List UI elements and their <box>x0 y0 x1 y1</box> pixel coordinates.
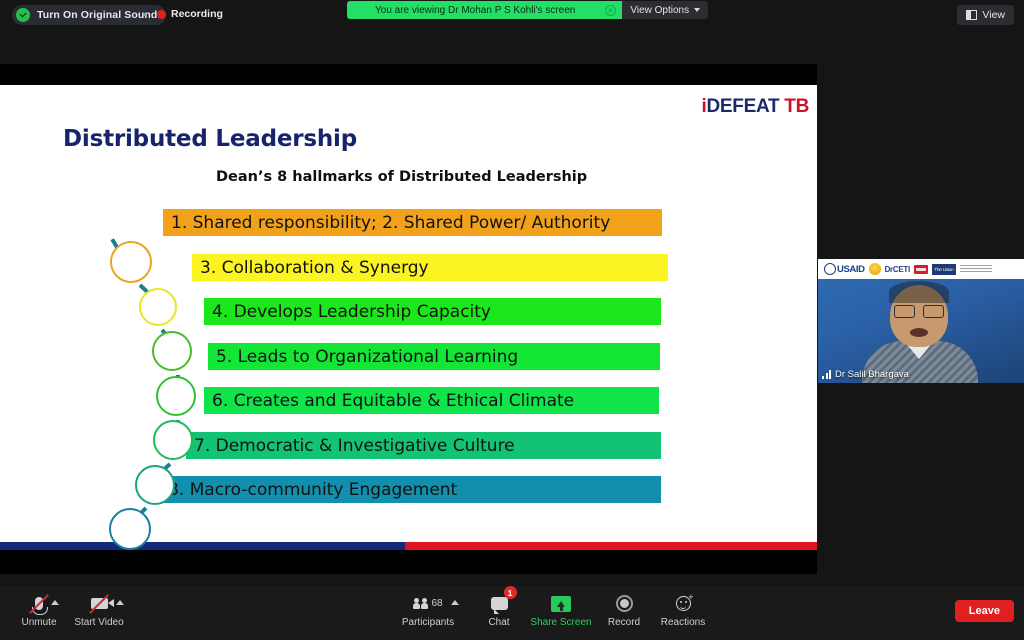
start-video-button[interactable]: Start Video <box>62 592 136 628</box>
top-bar: Turn On Original Sound Recording You are… <box>0 0 1024 30</box>
hallmark-bar: 7. Democratic & Investigative Culture <box>186 432 661 459</box>
hallmark-label: 6. Creates and Equitable & Ethical Clima… <box>212 391 574 411</box>
presentation-slide: iDEFEAT TB Distributed Leadership Dean’s… <box>0 85 817 550</box>
audio-options-caret-icon[interactable] <box>51 600 59 605</box>
microphone-muted-icon <box>35 592 43 615</box>
share-screen-label: Share Screen <box>530 617 591 628</box>
close-icon[interactable] <box>605 5 616 16</box>
hallmark-bar: 1. Shared responsibility; 2. Shared Powe… <box>163 209 662 236</box>
separator-dot <box>143 13 146 16</box>
participants-count: 68 <box>431 598 442 609</box>
hallmark-node-circle <box>110 241 152 283</box>
chat-label: Chat <box>488 617 509 628</box>
original-sound-label: Turn On Original Sound <box>37 9 157 21</box>
participants-icon: 68 <box>413 592 442 615</box>
person-glasses <box>894 305 944 316</box>
hallmark-label: 5. Leads to Organizational Learning <box>216 347 518 367</box>
gold-seal-icon <box>869 263 881 275</box>
record-label: Record <box>608 617 640 628</box>
reactions-label: Reactions <box>661 617 705 628</box>
shield-check-icon <box>16 8 30 22</box>
reactions-icon: + <box>676 592 691 615</box>
record-icon <box>616 592 633 615</box>
record-dot-icon <box>157 10 166 19</box>
red-mark-logo <box>914 265 928 274</box>
the-union-logo: The Union <box>932 264 956 275</box>
video-feed <box>818 279 1024 383</box>
union-text-lines <box>960 265 992 273</box>
chat-unread-badge: 1 <box>504 586 517 599</box>
leave-button[interactable]: Leave <box>955 600 1014 622</box>
usaid-logo: USAID <box>824 263 865 275</box>
meeting-toolbar: Unmute Start Video 68 Participants 1 Cha… <box>0 586 1024 640</box>
reactions-button[interactable]: + Reactions <box>646 592 720 628</box>
hallmark-node-circle <box>152 331 192 371</box>
shared-screen-region[interactable]: iDEFEAT TB Distributed Leadership Dean’s… <box>0 64 817 574</box>
person-mouth <box>910 328 928 337</box>
camera-muted-icon <box>91 592 108 615</box>
red-mark-icon <box>914 265 928 274</box>
participants-label: Participants <box>402 617 454 628</box>
union-label: The Union <box>934 267 953 272</box>
hallmark-node-circle <box>135 465 175 505</box>
participant-video-tile[interactable]: USAID DrCETI The Union Dr Salil Bhargava <box>818 259 1024 383</box>
hallmark-bar: 3. Collaboration & Synergy <box>192 254 668 281</box>
ceti-label: DrCETI <box>885 265 910 274</box>
footer-bar-red <box>405 542 817 550</box>
view-layout-button[interactable]: View <box>957 5 1014 25</box>
hallmark-node-circle <box>153 420 193 460</box>
sponsor-logo-strip: USAID DrCETI The Union <box>818 259 1024 279</box>
hallmark-label: 3. Collaboration & Synergy <box>200 258 429 278</box>
share-screen-icon <box>551 592 571 615</box>
viewing-label: You are viewing Dr Mohan P S Kohli's scr… <box>375 5 575 16</box>
viewing-notice: You are viewing Dr Mohan P S Kohli's scr… <box>347 1 622 19</box>
hallmarks-diagram: 1. Shared responsibility; 2. Shared Powe… <box>0 85 817 550</box>
screen-share-banner: You are viewing Dr Mohan P S Kohli's scr… <box>347 1 708 19</box>
hallmark-node-circle <box>156 376 196 416</box>
chat-icon: 1 <box>491 592 508 615</box>
video-options-caret-icon[interactable] <box>116 600 124 605</box>
hallmark-label: 1. Shared responsibility; 2. Shared Powe… <box>171 213 610 233</box>
usaid-seal-icon <box>824 263 836 275</box>
participant-name: Dr Salil Bhargava <box>835 369 909 380</box>
unmute-label: Unmute <box>21 617 56 628</box>
participants-caret-icon[interactable] <box>451 600 459 605</box>
hallmark-bar: 6. Creates and Equitable & Ethical Clima… <box>204 387 659 414</box>
view-options-button[interactable]: View Options <box>622 1 708 19</box>
participant-name-overlay: Dr Salil Bhargava <box>822 369 909 380</box>
view-button-label: View <box>982 9 1005 21</box>
recording-indicator[interactable]: Recording <box>157 8 223 20</box>
gold-seal-logo <box>869 263 881 275</box>
start-video-label: Start Video <box>74 617 123 628</box>
participants-button[interactable]: 68 Participants <box>391 592 465 628</box>
recording-label: Recording <box>171 8 223 20</box>
hallmark-node-circle <box>139 288 177 326</box>
footer-bar-blue <box>0 542 405 550</box>
ceti-logo: DrCETI <box>885 265 910 274</box>
person-hair <box>889 281 949 303</box>
usaid-label: USAID <box>837 264 865 275</box>
hallmark-label: 7. Democratic & Investigative Culture <box>194 436 515 456</box>
signal-bars-icon <box>822 370 831 379</box>
hallmark-node-circle <box>109 508 151 550</box>
hallmark-bar: 5. Leads to Organizational Learning <box>208 343 660 370</box>
layout-panel-icon <box>966 10 977 20</box>
union-box-icon: The Union <box>932 264 956 275</box>
hallmark-label: 4. Develops Leadership Capacity <box>212 302 491 322</box>
view-options-label: View Options <box>630 5 689 16</box>
hallmark-bar: 4. Develops Leadership Capacity <box>204 298 661 325</box>
chevron-down-icon <box>694 8 700 12</box>
hallmark-bar: 8. Macro-community Engagement <box>160 476 661 503</box>
hallmark-label: 8. Macro-community Engagement <box>168 480 457 500</box>
